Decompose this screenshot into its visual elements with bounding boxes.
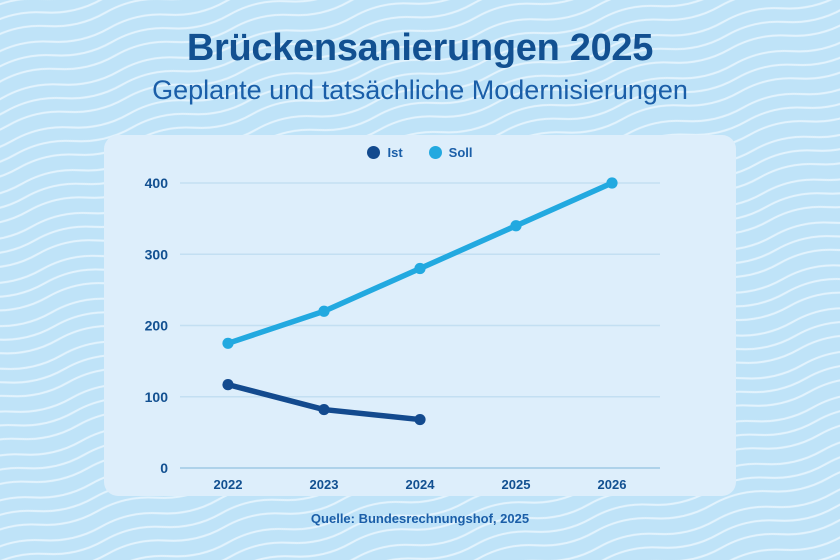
y-axis-tick-label: 200 bbox=[145, 318, 169, 334]
infographic-canvas: Brückensanierungen 2025 Geplante und tat… bbox=[0, 0, 840, 560]
chart-card: Ist Soll 0100200300400 20222023202420252… bbox=[104, 135, 736, 496]
data-point-soll[interactable] bbox=[510, 220, 521, 231]
line-chart-plot: 0100200300400 20222023202420252026 bbox=[104, 135, 736, 496]
y-axis-tick-labels: 0100200300400 bbox=[145, 175, 169, 476]
data-point-soll[interactable] bbox=[222, 338, 233, 349]
series-lines-group bbox=[228, 183, 612, 420]
x-axis-tick-label: 2024 bbox=[406, 477, 436, 492]
x-axis-tick-label: 2022 bbox=[214, 477, 243, 492]
data-point-soll[interactable] bbox=[606, 177, 617, 188]
data-point-soll[interactable] bbox=[318, 306, 329, 317]
page-title: Brückensanierungen 2025 bbox=[0, 28, 840, 69]
series-points-group bbox=[222, 177, 617, 425]
y-axis-tick-label: 100 bbox=[145, 389, 169, 405]
data-point-soll[interactable] bbox=[414, 263, 425, 274]
y-axis-tick-label: 400 bbox=[145, 175, 169, 191]
data-point-ist[interactable] bbox=[222, 379, 233, 390]
gridlines-group bbox=[180, 183, 660, 468]
x-axis-tick-labels: 20222023202420252026 bbox=[214, 477, 627, 492]
x-axis-tick-label: 2025 bbox=[502, 477, 531, 492]
page-subtitle: Geplante und tatsächliche Modernisierung… bbox=[0, 75, 840, 107]
y-axis-tick-label: 0 bbox=[160, 460, 168, 476]
x-axis-tick-label: 2026 bbox=[598, 477, 627, 492]
y-axis-tick-label: 300 bbox=[145, 246, 169, 262]
source-note: Quelle: Bundesrechnungshof, 2025 bbox=[0, 511, 840, 526]
data-point-ist[interactable] bbox=[318, 404, 329, 415]
header-block: Brückensanierungen 2025 Geplante und tat… bbox=[0, 28, 840, 107]
x-axis-tick-label: 2023 bbox=[310, 477, 339, 492]
data-point-ist[interactable] bbox=[414, 414, 425, 425]
